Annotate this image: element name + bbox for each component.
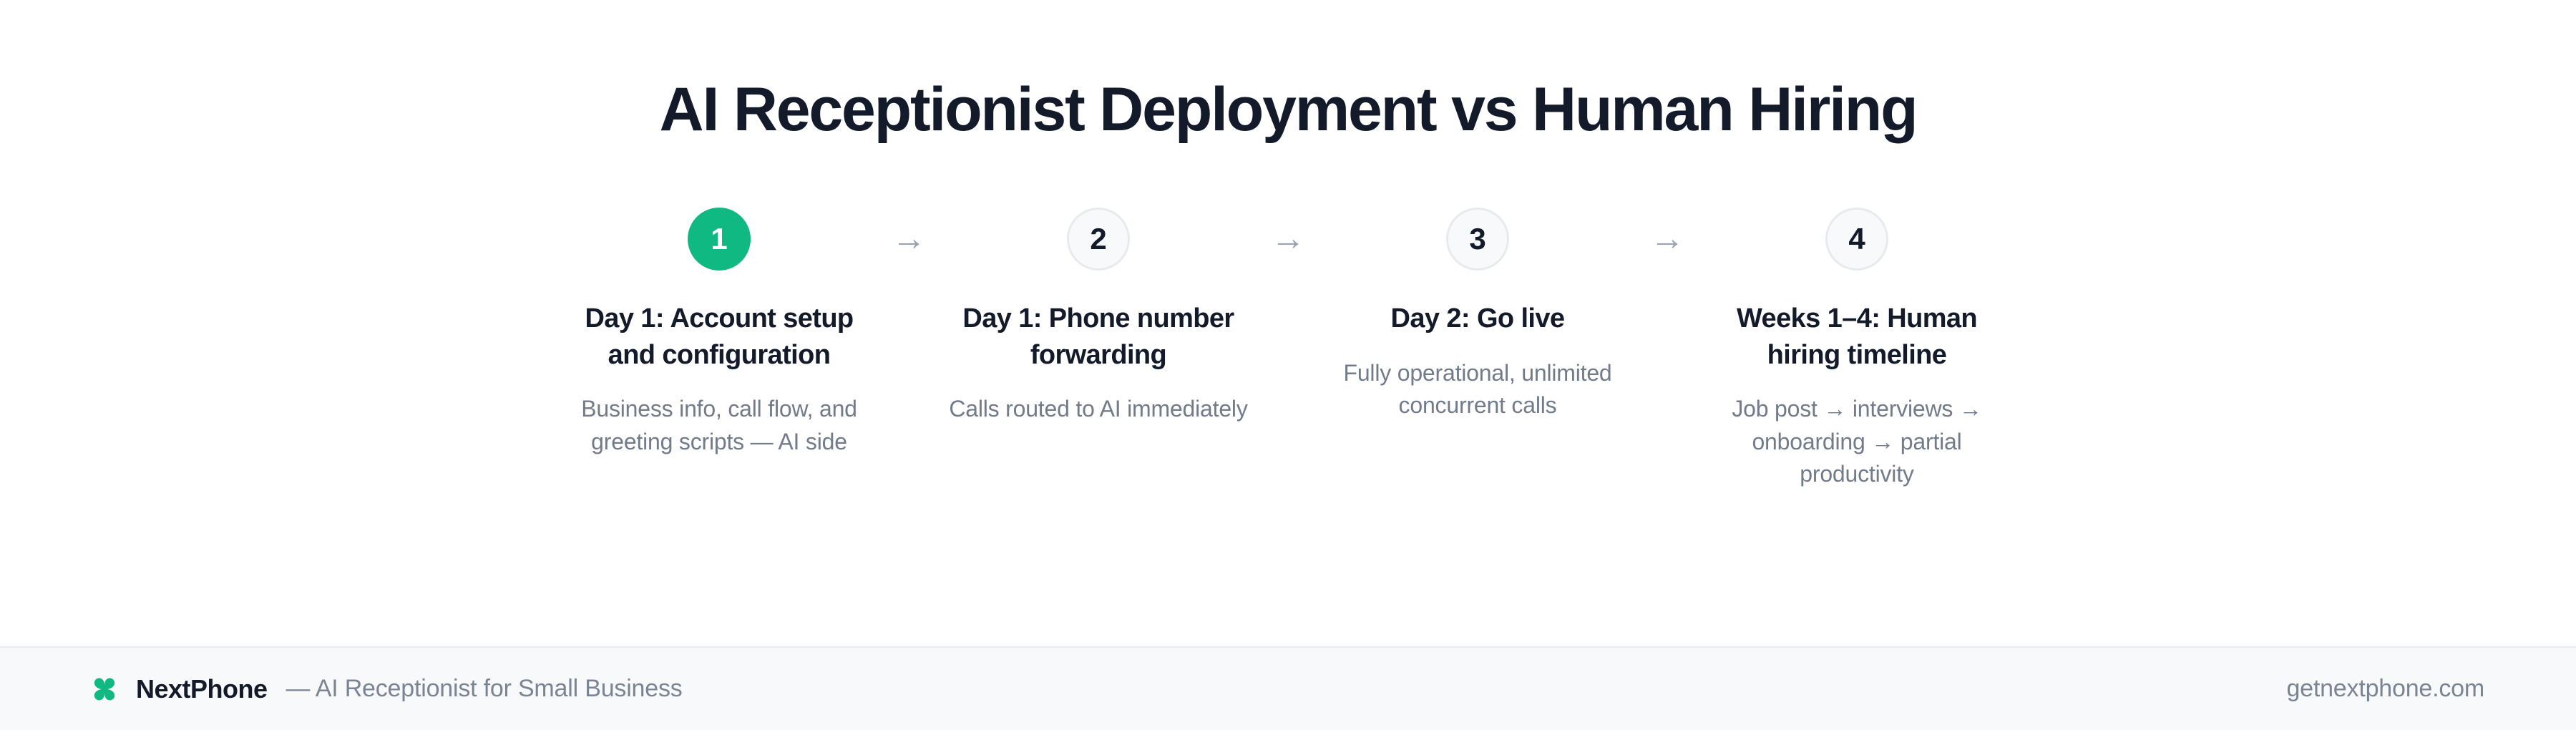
- step-number-badge-4: 4: [1825, 208, 1888, 271]
- step-title-2: Day 1: Phone number forwarding: [948, 301, 1249, 373]
- footer-website-url: getnextphone.com: [2286, 675, 2484, 703]
- arrow-right-icon: →: [1635, 208, 1699, 271]
- step-item-2: 2 Day 1: Phone number forwarding Calls r…: [941, 208, 1256, 426]
- steps-row: 1 Day 1: Account setup and configuration…: [562, 208, 2014, 490]
- step-number-badge-3: 3: [1446, 208, 1509, 271]
- page-title: AI Receptionist Deployment vs Human Hiri…: [660, 77, 1917, 142]
- step-item-4: 4 Weeks 1–4: Human hiring timeline Job p…: [1699, 208, 2014, 490]
- step-description-4: Job post → interviews → onboarding → par…: [1707, 393, 2007, 490]
- footer-bar: NextPhone — AI Receptionist for Small Bu…: [0, 646, 2576, 730]
- clover-logo-icon: [92, 676, 117, 702]
- step-description-2: Calls routed to AI immediately: [949, 393, 1247, 425]
- footer-brand-group: NextPhone — AI Receptionist for Small Bu…: [92, 674, 683, 704]
- title-area: AI Receptionist Deployment vs Human Hiri…: [0, 0, 2576, 142]
- step-item-1: 1 Day 1: Account setup and configuration…: [562, 208, 877, 458]
- step-number-badge-1: 1: [688, 208, 751, 271]
- steps-section: 1 Day 1: Account setup and configuration…: [0, 142, 2576, 646]
- step-description-3: Fully operational, unlimited concurrent …: [1327, 357, 1628, 422]
- step-title-4: Weeks 1–4: Human hiring timeline: [1707, 301, 2007, 373]
- brand-name: NextPhone: [136, 674, 268, 704]
- arrow-right-icon: →: [1256, 208, 1320, 271]
- step-title-1: Day 1: Account setup and configuration: [569, 301, 869, 373]
- brand-tagline: — AI Receptionist for Small Business: [286, 675, 683, 703]
- arrow-right-icon: →: [877, 208, 941, 271]
- step-description-1: Business info, call flow, and greeting s…: [569, 393, 869, 458]
- infographic-root: AI Receptionist Deployment vs Human Hiri…: [0, 0, 2576, 730]
- step-number-badge-2: 2: [1067, 208, 1130, 271]
- step-title-3: Day 2: Go live: [1391, 301, 1565, 337]
- step-item-3: 3 Day 2: Go live Fully operational, unli…: [1320, 208, 1635, 422]
